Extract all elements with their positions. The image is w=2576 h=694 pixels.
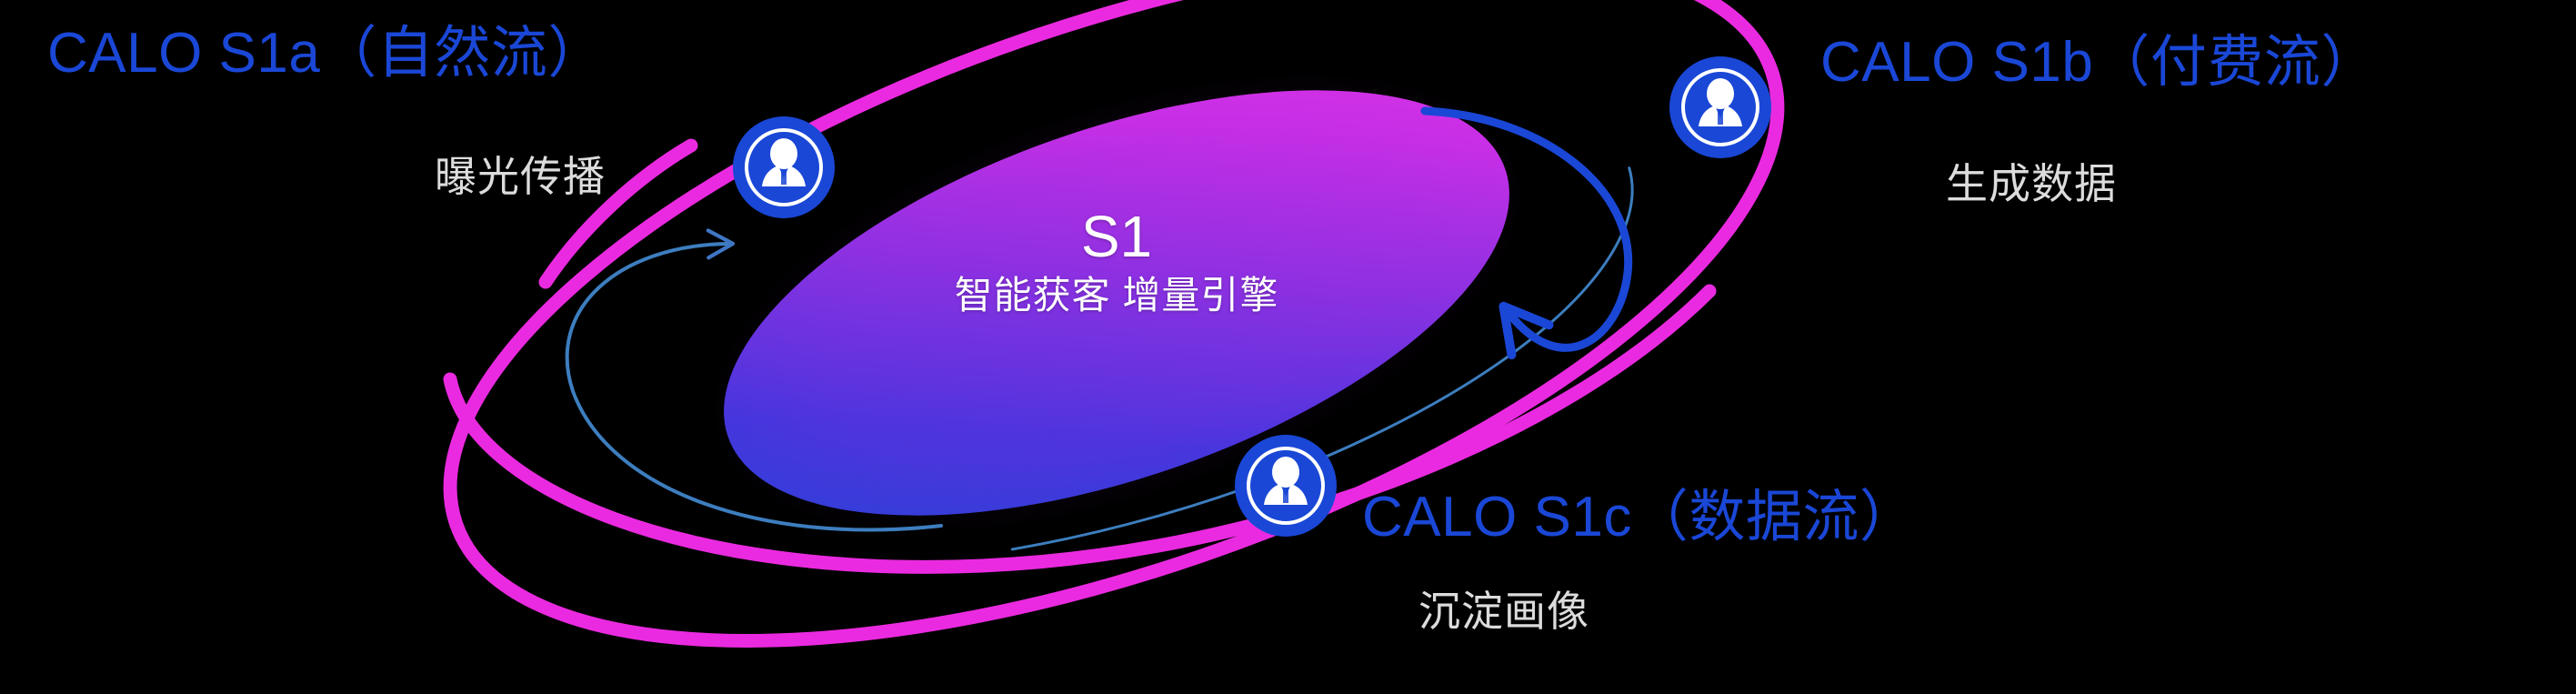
diagram-canvas: S1 智能获客 增量引擎 CALO S1a（自然流） 曝光传播 CALO S1b… xyxy=(0,0,2576,694)
node-s1c[interactable] xyxy=(1235,435,1337,537)
node-s1b[interactable] xyxy=(1669,56,1771,158)
core-ellipse xyxy=(649,0,1585,627)
orbit-diagram-svg xyxy=(0,0,2576,694)
node-s1a[interactable] xyxy=(733,116,835,218)
